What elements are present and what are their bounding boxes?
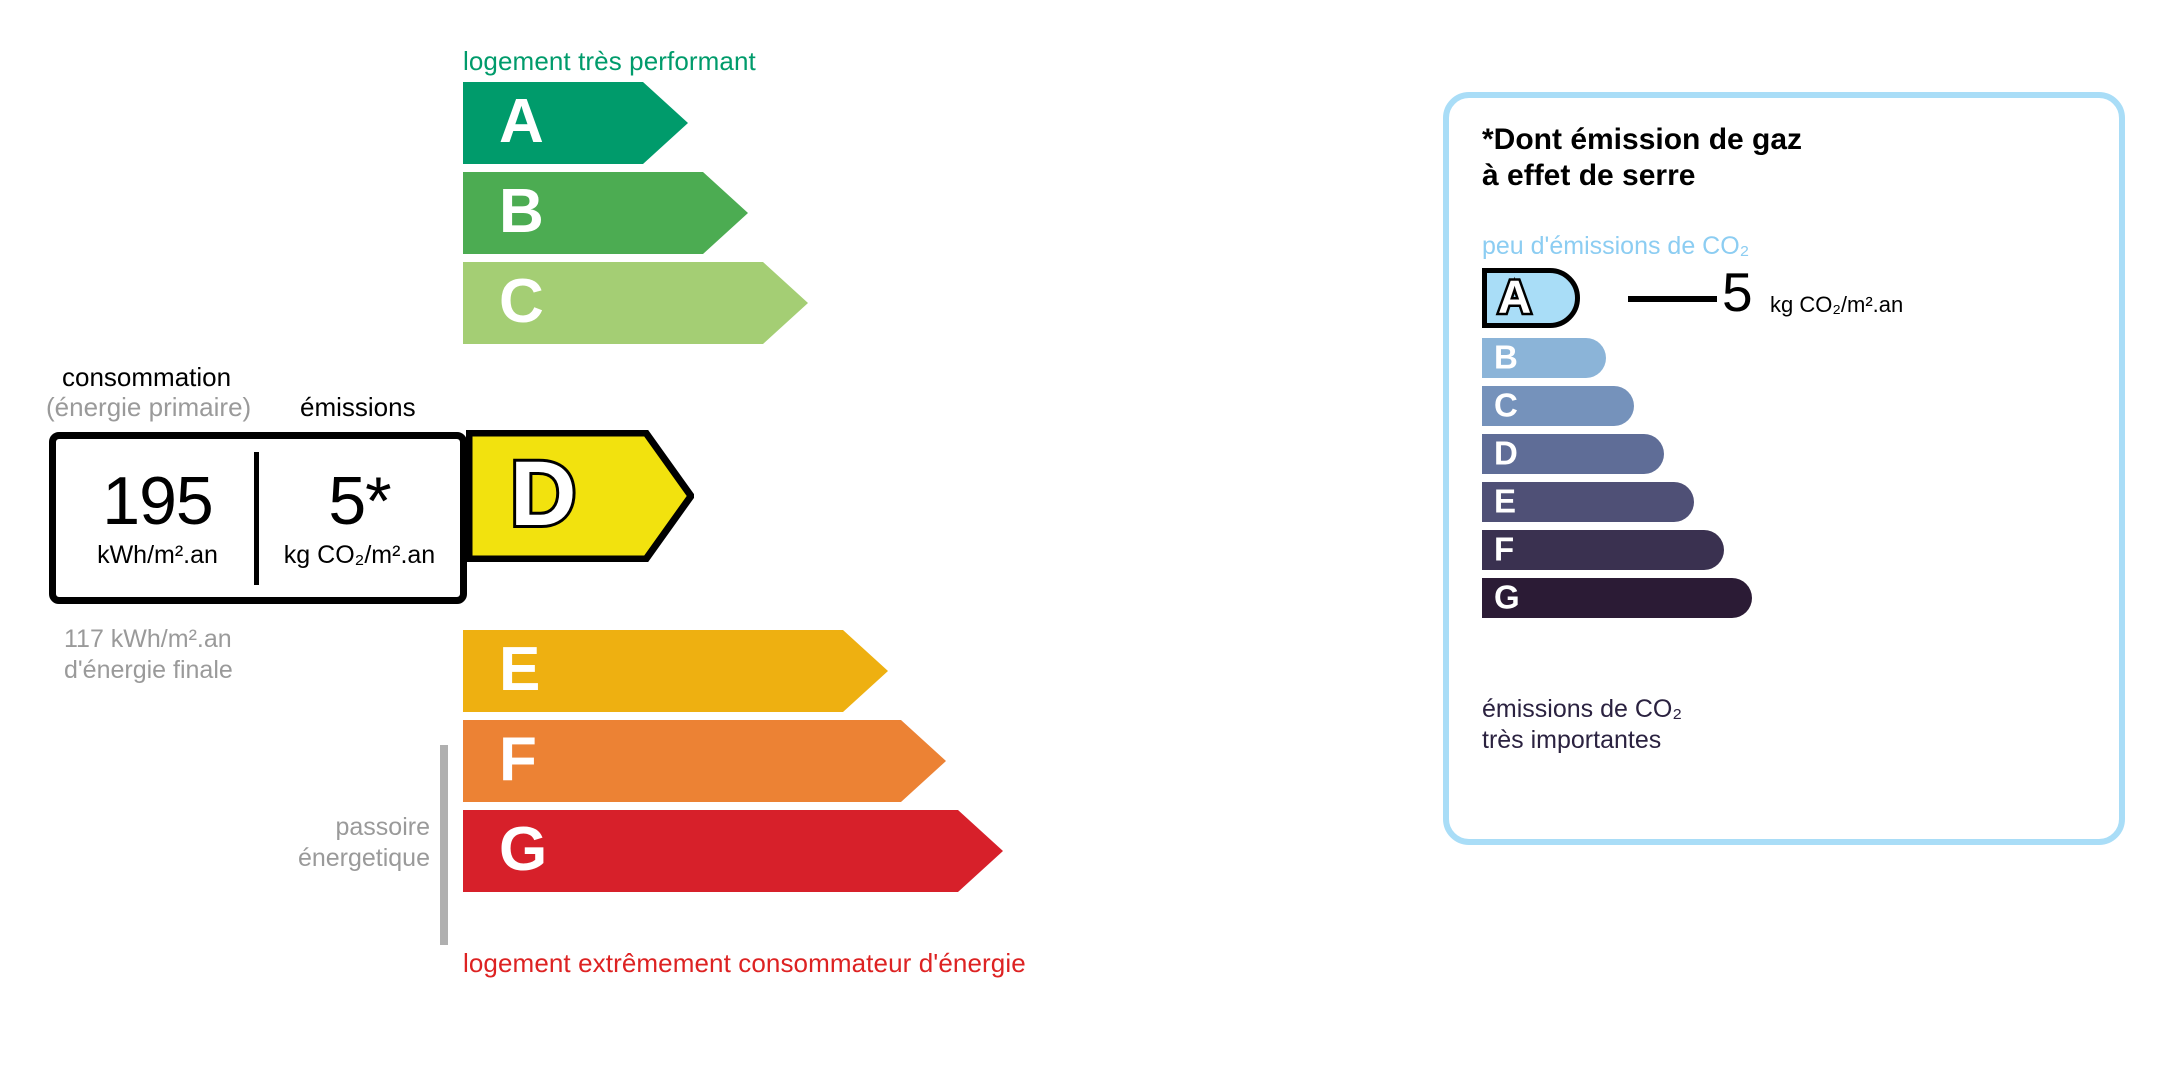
co2-value-connector-line	[1628, 296, 1717, 302]
emissions-label: émissions	[300, 392, 416, 423]
co2-bar-letter-c: C	[1494, 389, 1518, 422]
co2-emissions-panel: *Dont émission de gaz à effet de serre p…	[1443, 92, 2125, 845]
co2-bar-letter-d: D	[1494, 437, 1518, 470]
co2-value-unit: kg CO₂/m².an	[1770, 294, 1903, 316]
co2-caption-bottom-line2: très importantes	[1482, 725, 1682, 756]
passoire-energetique-label: passoire énergetique	[150, 812, 430, 873]
co2-panel-title: *Dont émission de gaz à effet de serre	[1482, 122, 1802, 194]
co2-bar-letter-f: F	[1494, 533, 1514, 566]
consumption-label: consommation	[62, 362, 231, 393]
scale-caption-bottom: logement extrêmement consommateur d'éner…	[463, 948, 1026, 979]
energy-bar-letter-e: E	[499, 639, 540, 701]
emissions-unit: kg CO₂/m².an	[284, 543, 435, 568]
energy-bar-letter-a: A	[499, 91, 544, 153]
co2-bar-letter-e: E	[1494, 485, 1516, 518]
co2-caption-bottom-line1: émissions de CO₂	[1482, 694, 1682, 725]
energy-bar-letter-g: G	[499, 819, 547, 881]
co2-bar-letter-a: A	[1498, 274, 1531, 320]
co2-caption-top: peu d'émissions de CO₂	[1482, 232, 1749, 261]
energy-bar-d	[466, 430, 694, 562]
co2-bar-letter-g: G	[1494, 581, 1520, 614]
co2-title-line1: *Dont émission de gaz	[1482, 122, 1802, 158]
co2-value: 5	[1722, 265, 1753, 320]
emissions-value: 5*	[328, 468, 390, 535]
energy-bar-letter-b: B	[499, 181, 544, 243]
emissions-value-cell: 5* kg CO₂/m².an	[259, 439, 460, 597]
consumption-value-cell: 195 kWh/m².an	[56, 439, 259, 597]
co2-bar-f	[1482, 530, 1724, 570]
co2-title-line2: à effet de serre	[1482, 158, 1802, 194]
co2-bar-g	[1482, 578, 1752, 618]
consumption-unit: kWh/m².an	[97, 543, 218, 568]
passoire-energetique-rule	[440, 745, 448, 945]
consumption-sublabel: (énergie primaire)	[46, 392, 251, 423]
energy-bar-letter-c: C	[499, 271, 544, 333]
co2-bar-letter-b: B	[1494, 341, 1518, 374]
final-energy-line2: d'énergie finale	[64, 655, 233, 686]
energy-bar-a	[463, 82, 688, 164]
final-energy-line1: 117 kWh/m².an	[64, 624, 233, 655]
energy-bar-letter-d: D	[510, 448, 576, 540]
passoire-label-line1: passoire	[150, 812, 430, 843]
final-energy-label: 117 kWh/m².an d'énergie finale	[64, 624, 233, 685]
energy-bar-letter-f: F	[499, 729, 537, 791]
scale-caption-top: logement très performant	[463, 46, 756, 77]
value-box-divider	[254, 452, 259, 585]
co2-caption-bottom: émissions de CO₂ très importantes	[1482, 694, 1682, 755]
energy-performance-scale: logement très performant A B C	[0, 0, 1360, 1079]
consumption-value: 195	[102, 468, 212, 535]
passoire-label-line2: énergetique	[150, 843, 430, 874]
